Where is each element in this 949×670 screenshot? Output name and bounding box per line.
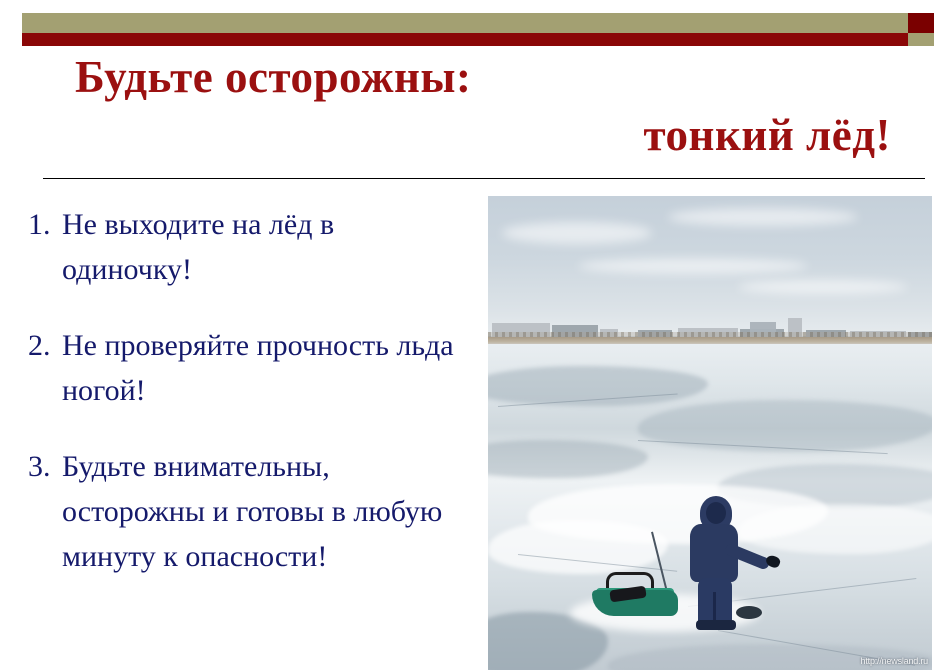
header-band-red-segment <box>22 33 908 46</box>
snow-patch <box>738 504 932 554</box>
ice-patch <box>488 440 648 478</box>
snow-patch <box>488 520 668 574</box>
header-band-red-accent-segment <box>908 13 934 33</box>
safety-tips-list: 1. Не выходите на лёд в одиночку! 2. Не … <box>28 202 468 579</box>
cloud-shape <box>738 280 908 294</box>
list-item-text: Будьте внимательны, осторожны и готовы в… <box>62 444 468 579</box>
list-item: 1. Не выходите на лёд в одиночку! <box>28 202 468 292</box>
header-band-bottom-row <box>22 33 934 46</box>
list-item-number: 1. <box>28 202 62 247</box>
list-item: 3. Будьте внимательны, осторожны и готов… <box>28 444 468 579</box>
list-item-number: 3. <box>28 444 62 489</box>
cloud-shape <box>668 208 858 226</box>
header-band-olive-segment <box>22 13 908 33</box>
photo-watermark: http://newsland.ru <box>861 656 928 666</box>
header-band-olive-accent-segment <box>908 33 934 46</box>
header-decorative-band <box>22 13 934 46</box>
figure-leg-separation <box>713 592 716 622</box>
figure-hood-shadow <box>706 502 726 524</box>
header-band-top-row <box>22 13 934 33</box>
cloud-shape <box>578 258 808 274</box>
list-item: 2. Не проверяйте прочность льда ногой! <box>28 323 468 413</box>
slide-title-line-2: тонкий лёд! <box>43 106 903 164</box>
photo-scene: http://newsland.ru <box>488 196 932 670</box>
list-item-number: 2. <box>28 323 62 368</box>
slide-title-line-1: Будьте осторожны: <box>43 48 903 106</box>
list-item-text: Не выходите на лёд в одиночку! <box>62 202 468 292</box>
fishing-sled <box>592 572 678 616</box>
fisherman-figure <box>674 496 754 626</box>
slide-title: Будьте осторожны: тонкий лёд! <box>43 48 903 164</box>
figure-boots <box>696 620 736 630</box>
cloud-shape <box>502 222 652 244</box>
list-item-text: Не проверяйте прочность льда ногой! <box>62 323 468 413</box>
ice-safety-photo: http://newsland.ru <box>488 196 932 670</box>
ice-patch <box>638 400 932 452</box>
title-divider-rule <box>43 178 925 179</box>
